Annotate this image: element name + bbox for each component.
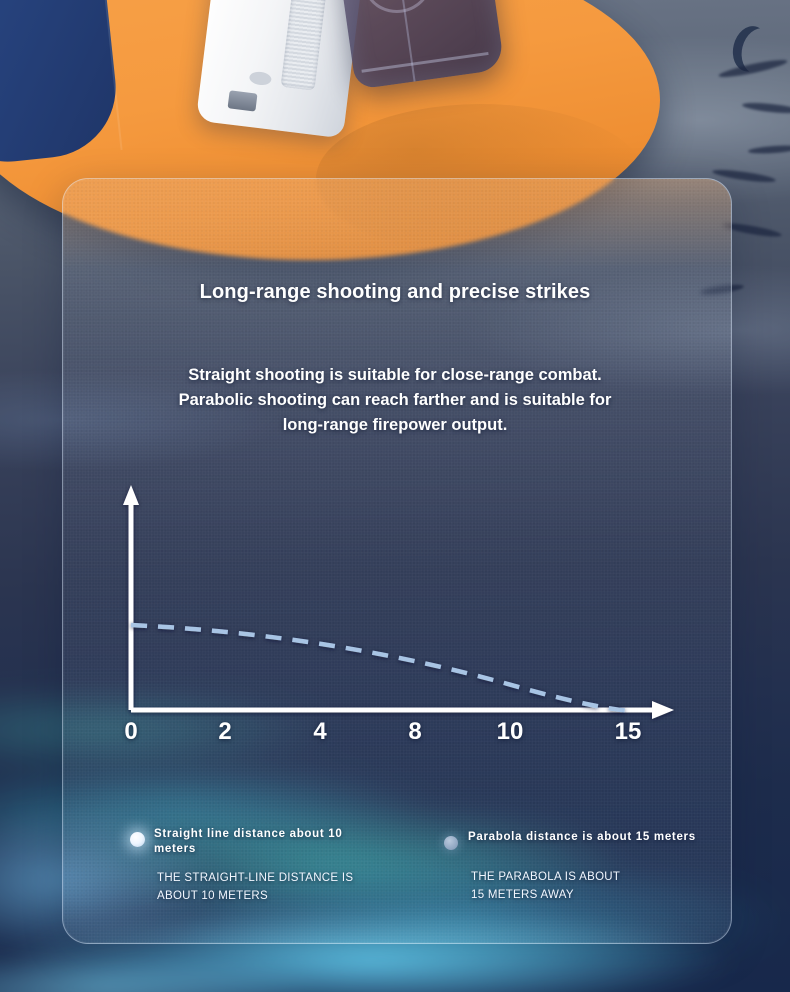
legend-caption-line-1: THE PARABOLA IS ABOUT — [471, 868, 721, 886]
poster-stage: Long-range shooting and precise strikes … — [0, 0, 790, 992]
legend-dot-icon — [444, 836, 458, 850]
subtitle-line-2: Parabolic shooting can reach farther and… — [95, 388, 695, 413]
legend-title: Parabola distance is about 15 meters — [468, 830, 728, 845]
device-nozzle — [228, 90, 258, 111]
subtitle-line-3: long-range firepower output. — [95, 413, 695, 438]
x-tick-label-8: 8 — [408, 718, 421, 746]
page-title: Long-range shooting and precise strikes — [0, 281, 790, 304]
legend-caption-line-1: THE STRAIGHT-LINE DISTANCE IS — [157, 869, 397, 887]
x-tick-label-10: 10 — [497, 718, 524, 746]
device-grip-texture — [281, 0, 327, 91]
legend-title: Straight line distance about 10 meters — [154, 827, 354, 857]
x-tick-label-15: 15 — [615, 718, 642, 746]
legend-dot-icon — [130, 832, 145, 847]
x-tick-label-4: 4 — [313, 718, 326, 746]
tank-seam — [393, 0, 416, 82]
x-tick-label-2: 2 — [218, 718, 231, 746]
product-device — [196, 0, 362, 138]
legend-caption-line-2: ABOUT 10 METERS — [157, 887, 397, 905]
x-tick-label-0: 0 — [124, 718, 137, 746]
device-button — [249, 71, 272, 87]
page-subtitle: Straight shooting is suitable for close-… — [95, 363, 695, 438]
subtitle-line-1: Straight shooting is suitable for close-… — [95, 363, 695, 388]
legend-caption-line-2: 15 METERS AWAY — [471, 886, 721, 904]
